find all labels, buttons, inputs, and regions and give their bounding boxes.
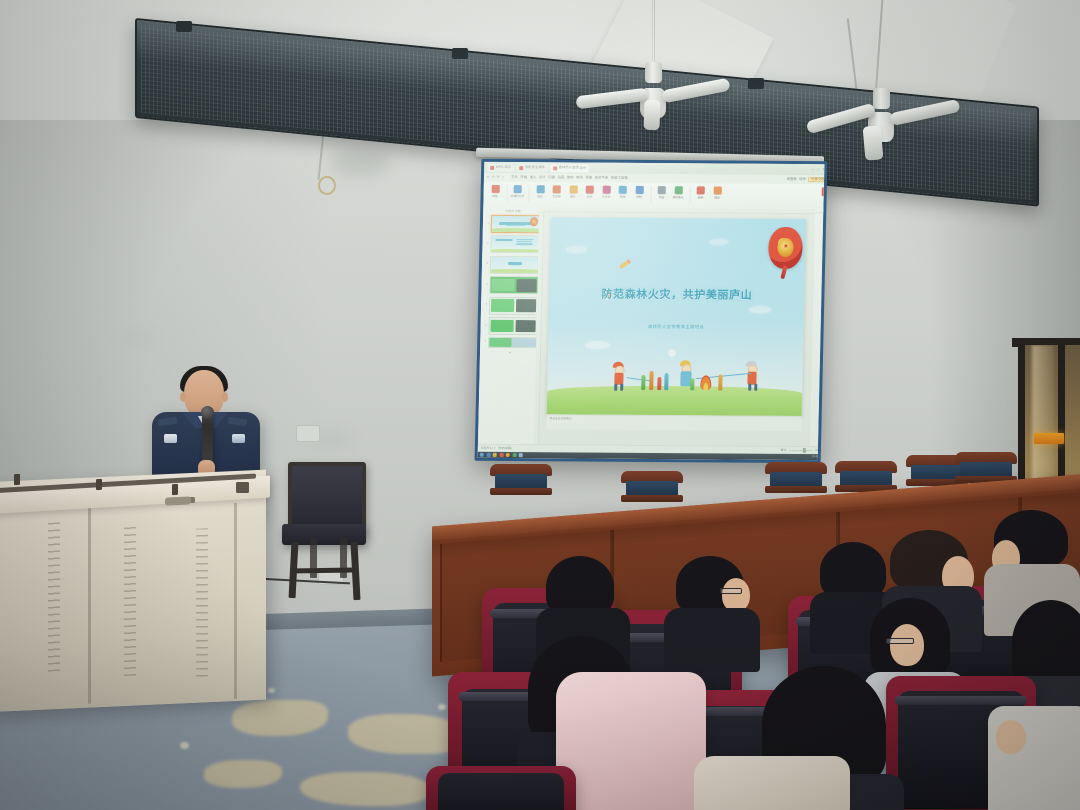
ribbon-separator xyxy=(506,185,507,202)
cord-loop xyxy=(318,176,336,195)
slide-thumbnail[interactable] xyxy=(490,215,541,233)
ribbon-label: 输出 xyxy=(714,196,720,199)
pink-jacket xyxy=(556,672,706,810)
person-hand xyxy=(996,720,1026,754)
eyeglasses xyxy=(886,638,914,644)
led-bracket xyxy=(176,21,192,32)
zoom-slider-handle[interactable] xyxy=(803,448,806,453)
minimize-button[interactable]: — xyxy=(811,168,814,172)
tree-sapling xyxy=(665,373,669,390)
fire-illustration xyxy=(700,376,711,391)
thumbnail-number: 1 xyxy=(485,222,489,225)
export-icon xyxy=(713,186,721,194)
browser-icon[interactable] xyxy=(506,453,510,457)
wooden-side-chair xyxy=(282,462,366,602)
presenter-badge xyxy=(232,434,245,443)
menu-item-view[interactable]: 视图 xyxy=(585,176,592,180)
ribbon-button-audio[interactable]: 音频 xyxy=(616,186,629,198)
fan-downrod xyxy=(875,0,884,96)
animation-icon xyxy=(658,186,666,194)
cream-jacket xyxy=(694,756,850,810)
floor-worn-patch xyxy=(300,772,430,806)
slideshow-icon xyxy=(697,186,705,194)
ribbon-label: 新建幻灯片 xyxy=(511,195,525,198)
menu-item-review[interactable]: 审阅 xyxy=(576,176,583,180)
seat-band xyxy=(895,696,1027,705)
status-right-group: 备注 66% xyxy=(781,449,821,452)
ribbon-button-new-slide[interactable]: 新建幻灯片 xyxy=(511,185,524,197)
conference-chair xyxy=(765,462,827,498)
thumbnail-number: 4 xyxy=(484,284,488,287)
presenter-badge xyxy=(164,434,177,443)
slide-thumbnail[interactable] xyxy=(488,317,539,335)
account-status[interactable]: 未登录 xyxy=(786,178,796,182)
floor-speck xyxy=(268,688,275,693)
slide-thumbnail[interactable] xyxy=(489,276,540,294)
chinese-lantern-emblem: ★ xyxy=(768,227,803,269)
person-hair xyxy=(1012,600,1080,686)
shape-icon xyxy=(586,186,594,194)
podium-rail-post xyxy=(172,484,178,495)
fan-canopy xyxy=(645,62,662,83)
photo-scene: WPS 演示 消防安全课件 森林防火宣传.pptx — □ ✕ xyxy=(0,0,1080,810)
ribbon-button-animation[interactable]: 动画 xyxy=(655,186,668,198)
slide-counter: 幻灯片 1 / 7 xyxy=(481,447,496,450)
presenter-ear xyxy=(222,392,228,402)
thumbnail-number: 3 xyxy=(484,263,488,266)
slide-thumbnail[interactable] xyxy=(488,337,539,348)
document-tab[interactable]: WPS 演示 xyxy=(487,163,514,171)
firefighter-leg xyxy=(614,384,617,391)
ribbon-label: 演讲备注 xyxy=(672,196,683,199)
new-slide-icon xyxy=(514,185,522,193)
fan-blade xyxy=(889,99,960,126)
ribbon-tabs: 文件 开始 插入 设计 切换 动画 放映 审阅 视图 会员专享 智能工具箱 xyxy=(511,176,628,181)
zoom-slider[interactable] xyxy=(789,450,813,452)
chair-back-pad xyxy=(840,471,892,486)
windows-taskbar: 10:42 xyxy=(478,452,822,460)
ribbon-label: 音频 xyxy=(620,195,626,198)
thumbnail-number: 6 xyxy=(483,324,487,327)
chair-lower-rail xyxy=(765,486,827,493)
firefighter-leg xyxy=(748,384,751,391)
podium-vent xyxy=(124,526,136,677)
redo-icon[interactable]: ⟳ xyxy=(497,176,500,180)
floor-speck xyxy=(438,704,446,710)
collaborate-button[interactable]: 协作 xyxy=(799,178,806,182)
share-button[interactable]: 分享文档 xyxy=(808,177,824,183)
ribbon-label: 动画 xyxy=(659,196,665,199)
wps-file-icon xyxy=(519,166,523,170)
ribbon-label: 艺术字 xyxy=(602,195,610,198)
close-button[interactable]: ✕ xyxy=(822,168,824,172)
audience-member xyxy=(670,556,752,668)
chair-back-pad xyxy=(626,481,678,496)
menu-right-group: 未登录 协作 分享文档 xyxy=(786,177,824,183)
floor-speck xyxy=(180,742,189,749)
ribbon-label: 粘贴 xyxy=(492,194,498,197)
menu-item-animation[interactable]: 动画 xyxy=(557,176,564,180)
ribbon-button-export[interactable]: 输出 xyxy=(711,186,724,198)
podium-vent xyxy=(196,528,208,677)
tab-label: WPS 演示 xyxy=(496,166,512,170)
taskbar-app-icon[interactable] xyxy=(519,453,523,457)
sun xyxy=(668,349,676,357)
layout-icon xyxy=(536,185,544,193)
ribbon-button-layout[interactable]: 版式 xyxy=(534,185,547,197)
ceiling-fan xyxy=(600,0,780,130)
wordart-icon xyxy=(602,186,610,194)
thumbnail-row[interactable]: 3 xyxy=(484,256,540,274)
slide-thumbnail[interactable] xyxy=(488,296,539,314)
fan-canopy xyxy=(873,88,890,109)
person-torso xyxy=(988,706,1080,810)
firefighter-character xyxy=(741,361,766,391)
cloud xyxy=(709,238,729,245)
podium-item xyxy=(236,482,249,493)
wall-power-socket xyxy=(296,425,320,442)
projection-screen: WPS 演示 消防安全课件 森林防火宣传.pptx — □ ✕ xyxy=(475,159,828,463)
slide-thumbnail[interactable] xyxy=(490,235,541,253)
current-slide[interactable]: ★ 防范森林火灾，共护美丽庐山 森林防火宣传教育主题班会 xyxy=(547,217,807,417)
menu-item-toolbox[interactable]: 智能工具箱 xyxy=(611,176,628,180)
fan-blade xyxy=(661,78,730,104)
wps-file-icon xyxy=(490,165,494,169)
seat-cushion xyxy=(438,773,564,810)
undo-icon[interactable]: ⟲ xyxy=(491,176,494,180)
person-head xyxy=(722,578,750,612)
eyeglasses xyxy=(720,588,742,594)
fan-blade xyxy=(863,125,884,160)
thumbnail-row[interactable]: 7 xyxy=(482,337,538,348)
tree-sapling xyxy=(649,371,653,390)
view-mode-label[interactable]: 备注 xyxy=(781,449,787,452)
tree-sapling xyxy=(642,375,646,390)
podium-rail-post xyxy=(14,474,20,485)
slide-editing-stage[interactable]: ★ 防范森林火灾，共护美丽庐山 森林防火宣传教育主题班会 xyxy=(534,207,815,447)
podium-door-seam xyxy=(234,503,237,699)
menu-item-home[interactable]: 开始 xyxy=(520,176,527,180)
presenter-ear xyxy=(180,392,186,402)
podium-papers xyxy=(165,496,191,505)
firefighter-leg xyxy=(754,384,757,391)
tree-sapling xyxy=(690,379,694,391)
thumbnail-number: 5 xyxy=(483,304,487,307)
conference-chair xyxy=(621,471,683,507)
ribbon-button-video[interactable]: 视频 xyxy=(633,186,646,198)
document-tab-active[interactable]: 森林防火宣传.pptx xyxy=(550,164,589,172)
podium-rail-post xyxy=(96,479,102,490)
menu-item-file[interactable]: 文件 xyxy=(511,176,518,180)
document-tab[interactable]: 消防安全课件 xyxy=(516,164,548,172)
picture-icon xyxy=(569,185,577,193)
wps-office-window: WPS 演示 消防安全课件 森林防火宣传.pptx — □ ✕ xyxy=(478,162,825,460)
add-slide-button[interactable]: + xyxy=(482,351,538,356)
thumbnail-row[interactable]: 2 xyxy=(484,235,540,253)
thumbnail-row[interactable]: 5 xyxy=(483,296,539,314)
language-indicator[interactable]: 中文(中国) xyxy=(498,447,511,450)
zoom-level[interactable]: 66% xyxy=(815,449,821,452)
taskbar-app-icon[interactable] xyxy=(486,453,490,457)
ribbon-label: 文本框 xyxy=(552,195,560,198)
maximize-button[interactable]: □ xyxy=(817,168,819,172)
speaker-notes-area[interactable]: 单击此处添加备注 xyxy=(546,414,801,431)
start-button-icon[interactable] xyxy=(480,453,484,457)
ceiling-fan xyxy=(840,0,1030,160)
chair-back-pad xyxy=(495,474,547,489)
ribbon-label: 放映 xyxy=(698,196,704,199)
slide-thumbnail[interactable] xyxy=(489,256,540,274)
audio-icon xyxy=(619,186,627,194)
menu-item-insert[interactable]: 插入 xyxy=(530,176,537,180)
horizontal-ruler xyxy=(539,207,815,214)
chair-back-pad xyxy=(960,462,1012,477)
audience-seat xyxy=(426,766,576,810)
thumbnail-number: 7 xyxy=(482,341,486,344)
window-controls: — □ ✕ xyxy=(811,168,824,172)
pencil-decoration xyxy=(619,258,632,269)
menu-item-slideshow[interactable]: 放映 xyxy=(567,176,574,180)
tree-sapling xyxy=(657,377,661,390)
textbox-icon xyxy=(553,185,561,193)
podium-vent xyxy=(48,521,60,672)
ribbon-button-shape[interactable]: 形状 xyxy=(583,186,596,198)
slide-title[interactable]: 防范森林火灾，共护美丽庐山 xyxy=(549,289,804,303)
ribbon-button-picture[interactable]: 图片 xyxy=(567,185,580,197)
wall-smudge xyxy=(120,330,154,344)
menu-item-transition[interactable]: 切换 xyxy=(548,176,555,180)
ribbon-label: 视频 xyxy=(636,195,642,198)
chair-lower-rail xyxy=(490,488,552,495)
led-bracket xyxy=(452,48,468,59)
taskbar-app-icon[interactable] xyxy=(512,453,516,457)
ribbon-label: 形状 xyxy=(587,195,593,198)
chair-lower-rail xyxy=(621,495,683,502)
search-icon[interactable]: ⌕ xyxy=(502,176,504,180)
ribbon-separator xyxy=(650,186,651,203)
taskbar-clock[interactable]: 10:42 xyxy=(812,456,820,459)
ribbon-separator xyxy=(689,186,690,203)
exit-sign xyxy=(1034,433,1064,444)
thumbnail-row[interactable]: 6 xyxy=(482,317,538,335)
video-icon xyxy=(635,186,643,194)
firefighter-leg xyxy=(620,384,623,391)
notes-icon xyxy=(674,186,682,194)
tree-sapling xyxy=(718,375,722,391)
taskbar-app-icon[interactable] xyxy=(499,453,503,457)
wps-file-icon xyxy=(553,166,557,170)
ribbon-button-wordart[interactable]: 艺术字 xyxy=(600,186,613,198)
paste-icon xyxy=(491,185,499,193)
ribbon-separator xyxy=(528,185,529,202)
menu-icon[interactable]: ≡ xyxy=(487,175,489,179)
ribbon-button-slideshow[interactable]: 放映 xyxy=(694,186,707,198)
slide-subtitle[interactable]: 森林防火宣传教育主题班会 xyxy=(549,324,804,330)
chair-back-pad xyxy=(770,472,822,487)
audience-member xyxy=(988,706,1080,810)
ribbon-label: 图片 xyxy=(570,195,576,198)
fan-blade xyxy=(643,100,660,131)
cloud xyxy=(584,340,610,349)
thumbnail-number: 2 xyxy=(484,243,488,246)
ribbon-button-textbox[interactable]: 文本框 xyxy=(550,185,563,197)
podium-door-seam xyxy=(88,504,91,704)
ribbon-button-notes[interactable]: 演讲备注 xyxy=(672,186,685,198)
conference-chair xyxy=(490,464,552,500)
quick-access-toolbar: ≡ ⟲ ⟳ ⌕ xyxy=(487,175,504,179)
tab-label: 森林防火宣传.pptx xyxy=(558,166,586,170)
thumbnail-row[interactable]: 1 xyxy=(485,215,541,233)
file-explorer-icon[interactable] xyxy=(493,453,497,457)
thumbnail-row[interactable]: 4 xyxy=(483,276,539,294)
wall-smudge xyxy=(330,150,390,176)
floor-worn-patch xyxy=(204,760,282,788)
ribbon-accent-button[interactable] xyxy=(822,187,825,196)
person-head xyxy=(890,624,924,666)
menu-item-design[interactable]: 设计 xyxy=(539,176,546,180)
tab-label: 消防安全课件 xyxy=(525,166,545,170)
lantern-star: ★ xyxy=(783,244,789,250)
ribbon-label: 版式 xyxy=(537,195,543,198)
cloud xyxy=(566,245,588,253)
microphone-head xyxy=(201,406,214,419)
projection-surface: WPS 演示 消防安全课件 森林防火宣传.pptx — □ ✕ xyxy=(478,162,825,460)
person-torso xyxy=(664,608,760,672)
ribbon-button-paste[interactable]: 粘贴 xyxy=(489,185,502,197)
firefighter-character xyxy=(608,362,631,390)
menu-item-member[interactable]: 会员专享 xyxy=(595,176,609,180)
cloud xyxy=(748,306,772,314)
